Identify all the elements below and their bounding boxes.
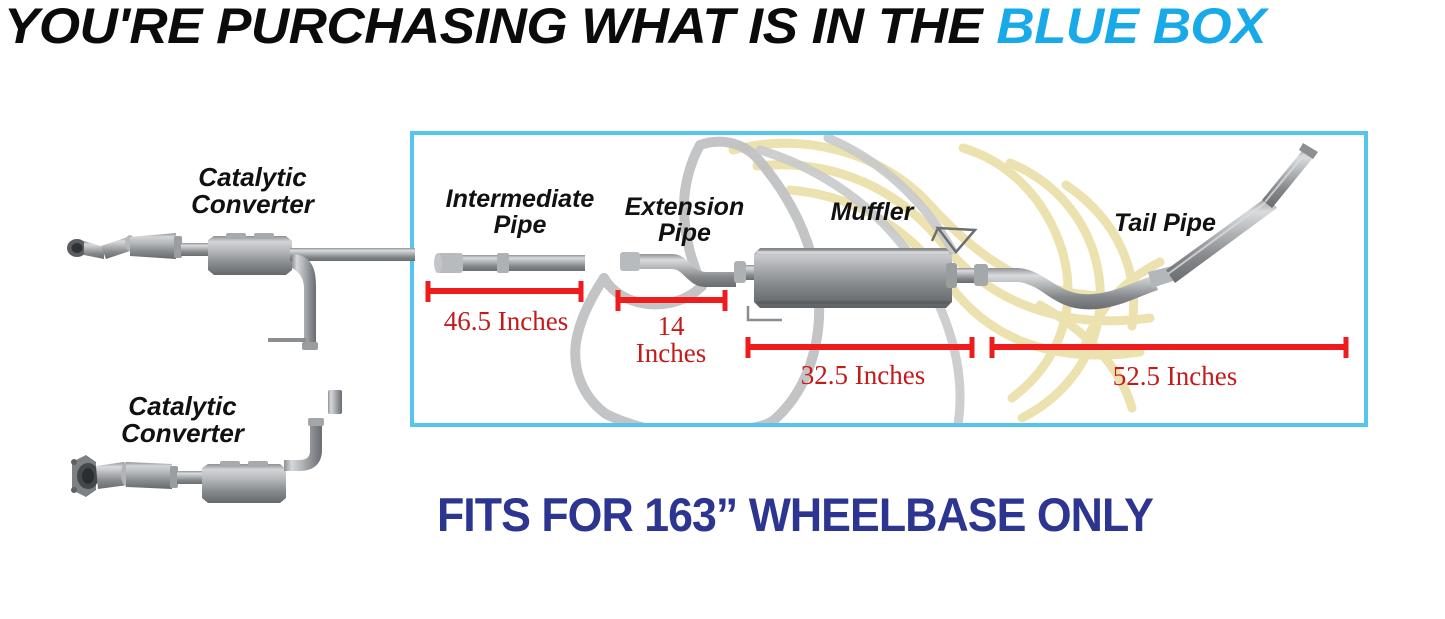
dim-label-muffler: 32.5 Inches (768, 362, 958, 389)
label-tail-pipe: Tail Pipe (1095, 210, 1235, 236)
dim-label-intermediate-pipe: 46.5 Inches (416, 308, 596, 335)
label-muffler: Muffler (802, 199, 942, 225)
product-info-graphic: YOU'RE PURCHASING WHAT IS IN THE BLUE BO… (0, 0, 1445, 619)
fitment-note: FITS FOR 163” WHEELBASE ONLY (406, 487, 1185, 543)
label-intermediate-pipe: Intermediate Pipe (430, 186, 610, 238)
label-catalytic-converter-bottom: Catalytic Converter (100, 393, 265, 447)
label-extension-pipe: Extension Pipe (612, 194, 757, 246)
label-catalytic-converter-top: Catalytic Converter (170, 164, 335, 218)
catalytic-converter-top-graphic (67, 233, 415, 350)
dim-label-extension-pipe: 14 Inches (612, 313, 730, 367)
headline-black-text: YOU'RE PURCHASING WHAT IS IN THE (4, 0, 996, 54)
page-title: YOU'RE PURCHASING WHAT IS IN THE BLUE BO… (4, 0, 1445, 54)
headline-blue-text: BLUE BOX (996, 0, 1266, 54)
dim-label-tail-pipe: 52.5 Inches (1080, 363, 1270, 390)
